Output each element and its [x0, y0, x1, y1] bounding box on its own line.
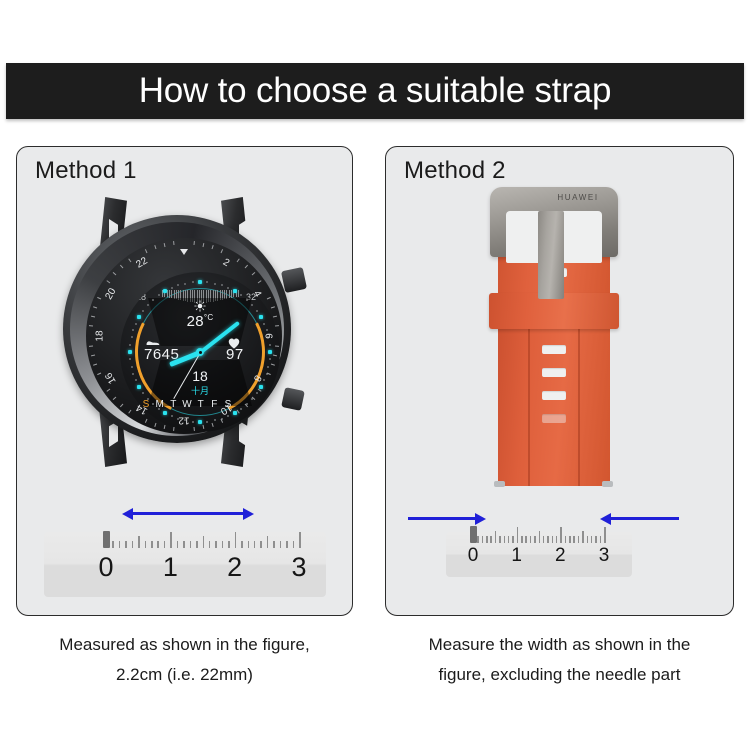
bezel-tick: [93, 306, 97, 308]
ruler-tick: [112, 541, 114, 548]
tachymeter-line: [174, 290, 175, 299]
dial-temperature: 28°C: [187, 313, 214, 330]
tachymeter-line: [231, 290, 232, 298]
ruler-tick: [215, 541, 217, 548]
bezel-tick: [202, 243, 204, 247]
ruler-ticks: [44, 532, 326, 548]
dial-hour-dot: [137, 315, 141, 319]
tachymeter-line: [176, 290, 177, 299]
strap-hole: [542, 368, 566, 377]
dial-minute-tick: [147, 304, 149, 306]
ruler-tick: [164, 541, 166, 548]
ruler-tick: [582, 531, 584, 543]
dial-weekday-2: T: [170, 399, 176, 410]
tachymeter-line: [226, 290, 227, 299]
tachymeter-line: [169, 290, 170, 298]
ruler-tick: [235, 532, 237, 548]
bezel-tick: [91, 316, 95, 318]
ruler-tick: [119, 541, 121, 548]
watch-pusher-button: [281, 387, 305, 411]
dial-minute-tick: [263, 323, 265, 325]
ruler-tick: [286, 541, 288, 548]
ruler-tick: [534, 536, 536, 543]
dial-hour-dot: [198, 280, 202, 284]
ruler-tick: [196, 541, 198, 548]
bezel-tick: [245, 265, 248, 269]
dial-minute-tick: [240, 294, 242, 296]
ruler-tick: [504, 536, 506, 543]
method-1-caption: Measured as shown in the figure, 2.2cm (…: [16, 630, 353, 690]
dial-minute-tick: [256, 392, 258, 394]
ruler-label-1: 1: [511, 545, 522, 567]
dial-minute-tick: [214, 419, 216, 421]
ruler-tick: [267, 536, 269, 548]
arrow-shaft: [133, 512, 243, 515]
bezel-number-18: 18: [95, 330, 106, 341]
watch-bezel: 18 32: [86, 238, 282, 434]
bezel-number-6: 6: [263, 333, 274, 339]
ruler-tick: [299, 532, 301, 548]
bezel-tick: [257, 280, 261, 283]
ruler-tick: [600, 536, 602, 543]
method-2-caption: Measure the width as shown in the figure…: [385, 630, 734, 690]
dial-weekday-3: W: [182, 399, 191, 410]
bezel-triangle-marker: [180, 249, 188, 255]
ruler-tick: [578, 536, 580, 543]
dial-minute-tick: [158, 408, 160, 410]
ruler-tick: [177, 541, 179, 548]
tachymeter-line: [171, 290, 172, 298]
method-2-label: Method 2: [404, 157, 506, 185]
dial-minute-tick: [152, 299, 154, 301]
strap-hole: [542, 345, 566, 354]
dial-date-month: 十月: [191, 384, 209, 397]
dial-minute-tick: [263, 379, 265, 381]
dial-hour-dot: [163, 411, 167, 415]
watch-strap-illustration: HUAWEI: [466, 187, 656, 527]
dial-minute-tick: [214, 283, 216, 285]
ruler-tick: [254, 541, 256, 548]
ruler-tick: [260, 541, 262, 548]
arrow-head-left: [122, 508, 133, 520]
ruler-tick: [228, 541, 230, 548]
temperature-value: 28: [187, 313, 204, 330]
ruler-tick: [190, 541, 192, 548]
dial-heart-rate: 97: [226, 346, 244, 363]
dial-minute-tick: [251, 304, 253, 306]
dial-minute-tick: [177, 284, 179, 286]
dial-weekday-5: F: [211, 399, 217, 410]
bezel-tick: [221, 249, 224, 253]
ruler-tick: [222, 541, 224, 548]
strap-hole: [542, 414, 566, 423]
ruler-tick: [280, 541, 282, 548]
ruler-tick: [486, 536, 488, 543]
bezel-tick: [174, 241, 175, 245]
dial-scale-left: 18: [136, 292, 146, 302]
ruler-tick: [565, 536, 567, 543]
dial-minute-tick: [246, 299, 248, 301]
bezel-tick: [270, 306, 274, 308]
dial-minute-tick: [132, 373, 134, 375]
dial-hour-dot: [198, 420, 202, 424]
ruler-tick: [248, 541, 250, 548]
bezel-tick: [164, 243, 166, 247]
bezel-tick: [89, 326, 93, 327]
ruler-label-2: 2: [227, 552, 242, 583]
buckle-brand-text: HUAWEI: [557, 193, 598, 202]
ruler-tick: [569, 536, 571, 543]
ruler-method-2: 0123: [446, 532, 632, 577]
dial-hour-dot: [137, 385, 141, 389]
spring-bar-left: [494, 481, 505, 487]
arrow-shaft-left: [408, 517, 476, 520]
ruler-tick: [560, 527, 562, 543]
ruler-tick: [587, 536, 589, 543]
bezel-tick: [128, 409, 131, 413]
tachymeter-line: [238, 290, 239, 297]
dial-hour-dot: [268, 350, 272, 354]
ruler-tick: [512, 536, 514, 543]
bezel-tick: [120, 403, 123, 407]
ruler-tick: [125, 541, 127, 548]
method-1-label: Method 1: [35, 157, 137, 185]
ruler-tick: [508, 536, 510, 543]
buckle-tongue: [538, 211, 564, 299]
strap-ridge-right: [578, 327, 580, 486]
ruler-tick: [209, 541, 211, 548]
ruler-tick: [490, 536, 492, 543]
ruler-tick: [556, 536, 558, 543]
strap-ridge-left: [528, 327, 530, 486]
ruler-tick: [482, 536, 484, 543]
ruler-label-0: 0: [468, 545, 479, 567]
bezel-tick: [237, 259, 240, 263]
dial-minute-tick: [266, 329, 268, 331]
arrow-head-right: [243, 508, 254, 520]
bezel-number-22: 22: [134, 256, 149, 271]
ruler-tick: [543, 536, 545, 543]
dial-minute-tick: [158, 294, 160, 296]
dial-minute-tick: [147, 398, 149, 400]
ruler-tick: [595, 536, 597, 543]
bezel-number-16: 16: [104, 370, 119, 385]
ruler-tick: [273, 541, 275, 548]
ruler-tick: [547, 536, 549, 543]
ruler-tick: [539, 531, 541, 543]
dial-minute-tick: [269, 358, 271, 360]
dial-minute-tick: [142, 310, 144, 312]
ruler-tick: [157, 541, 159, 548]
ruler-tick: [145, 541, 147, 548]
title-banner: How to choose a suitable strap: [6, 63, 744, 119]
bezel-tick: [193, 426, 194, 430]
dial-minute-tick: [227, 287, 229, 289]
ruler-tick: [477, 536, 479, 543]
dial-minute-tick: [206, 421, 208, 423]
dial-minute-tick: [131, 366, 133, 368]
ruler-tick: [495, 531, 497, 543]
arrow-head-inward-left: [475, 513, 486, 525]
bezel-tick: [113, 272, 117, 275]
dial-minute-tick: [142, 392, 144, 394]
dial-minute-tick: [131, 336, 133, 338]
dial-minute-tick: [256, 310, 258, 312]
dial-hour-dot: [128, 350, 132, 354]
ruler-tick: [573, 536, 575, 543]
bezel-tick: [274, 345, 278, 346]
watch-case: 18 32: [63, 215, 291, 443]
ruler-tick: [499, 536, 501, 543]
dial-minute-tick: [240, 408, 242, 410]
bezel-tick: [91, 354, 95, 356]
method-2-panel: Method 2 HUAWEI: [385, 146, 734, 616]
bezel-tick: [97, 297, 101, 300]
ruler-tick: [591, 536, 593, 543]
ruler-tick: [604, 527, 606, 543]
dial-hour-dot: [163, 289, 167, 293]
bezel-tick: [267, 297, 271, 300]
dial-minute-tick: [227, 415, 229, 417]
bezel-tick: [89, 345, 93, 346]
spring-bar-right: [602, 481, 613, 487]
dial-minute-tick: [192, 281, 194, 283]
ruler-label-0: 0: [98, 552, 113, 583]
bezel-tick: [107, 389, 111, 392]
caption-line: Measure the width as shown in the: [385, 630, 734, 660]
tachymeter-line: [224, 290, 225, 299]
bezel-tick: [120, 265, 123, 269]
dial-minute-tick: [152, 403, 154, 405]
ruler-tick: [170, 532, 172, 548]
ruler-tick: [521, 536, 523, 543]
caption-line: 2.2cm (i.e. 22mm): [16, 660, 353, 690]
dial-hour-dot: [233, 289, 237, 293]
bezel-tick: [145, 419, 148, 423]
bezel-tick: [113, 397, 117, 400]
dial-minute-tick: [267, 366, 269, 368]
page-root: How to choose a suitable strap Method 1: [0, 0, 750, 750]
bezel-tick: [273, 316, 277, 318]
bezel-number-2: 2: [221, 257, 231, 269]
bezel-tick: [97, 373, 101, 376]
dial-hour-dot: [259, 315, 263, 319]
ruler-tick: [241, 541, 243, 548]
bezel-tick: [193, 241, 194, 245]
strap-hole: [542, 391, 566, 400]
bezel-tick: [251, 272, 255, 275]
bezel-tick: [154, 245, 156, 249]
ruler-tick: [132, 541, 134, 548]
ruler-tick: [530, 536, 532, 543]
strap-lower-section: [498, 327, 610, 486]
bezel-tick: [212, 245, 214, 249]
smartwatch-illustration: 18 32: [47, 197, 327, 527]
bezel-number-12: 12: [178, 415, 189, 426]
dial-minute-tick: [192, 421, 194, 423]
page-title: How to choose a suitable strap: [139, 71, 612, 111]
ruler-tick: [151, 541, 153, 548]
bezel-tick: [93, 364, 97, 366]
dial-minute-tick: [135, 323, 137, 325]
dial-minute-tick: [129, 358, 131, 360]
arrow-head-inward-right: [600, 513, 611, 525]
bezel-tick: [154, 422, 156, 426]
dial-minute-tick: [171, 287, 173, 289]
ruler-zero-block: [103, 531, 110, 548]
ruler-label-1: 1: [163, 552, 178, 583]
dial-minute-tick: [206, 281, 208, 283]
watch-crown: [281, 267, 307, 293]
ruler-tick: [138, 536, 140, 548]
ruler-label-3: 3: [291, 552, 306, 583]
caption-line: Measured as shown in the figure,: [16, 630, 353, 660]
dial-minute-tick: [184, 283, 186, 285]
ruler-method-1: 0123: [44, 532, 326, 597]
ruler-tick: [552, 536, 554, 543]
dial-minute-tick: [269, 344, 271, 346]
bezel-tick: [164, 425, 166, 429]
ruler-tick: [525, 536, 527, 543]
ruler-label-3: 3: [599, 545, 610, 567]
bezel-number-20: 20: [104, 286, 119, 301]
dial-minute-tick: [135, 379, 137, 381]
caption-line: figure, excluding the needle part: [385, 660, 734, 690]
method-1-panel: Method 1: [16, 146, 353, 616]
dial-hand-cap-center: [199, 351, 202, 354]
watch-bezel-ring: 18 32: [70, 222, 284, 436]
ruler-tick: [293, 541, 295, 548]
dial-minute-tick: [129, 344, 131, 346]
bezel-tick: [107, 280, 111, 283]
temperature-unit: °C: [204, 313, 214, 322]
ruler-tick: [203, 536, 205, 548]
ruler-ticks: [446, 532, 632, 543]
ruler-label-2: 2: [555, 545, 566, 567]
ruler-tick: [517, 527, 519, 543]
sun-icon: [194, 300, 206, 312]
dial-minute-tick: [132, 329, 134, 331]
arrow-shaft-right: [611, 517, 679, 520]
dial-minute-tick: [171, 415, 173, 417]
ruler-tick: [183, 541, 185, 548]
shoe-icon: [146, 338, 160, 346]
bezel-tick: [128, 259, 131, 263]
tachymeter-line: [229, 290, 230, 298]
dial-date-day: 18: [192, 368, 208, 384]
dial-minute-tick: [221, 284, 223, 286]
ruler-zero-block: [470, 526, 477, 543]
bezel-tick: [145, 249, 148, 253]
dial-weekday-4: T: [198, 399, 204, 410]
bezel-number-4: 4: [251, 289, 263, 299]
